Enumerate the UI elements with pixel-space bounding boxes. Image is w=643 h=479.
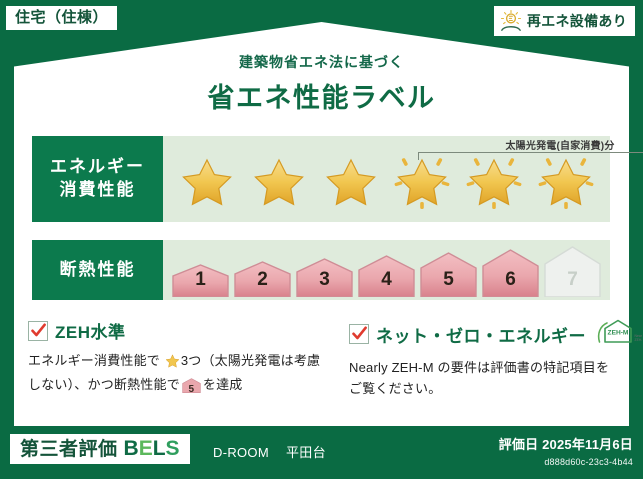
evaluation-date-label: 評価日 [499, 437, 539, 452]
claim-zeh-standard: ZEH水準 エネルギー消費性能で 3つ（太陽光発電は考慮しない）、かつ断熱性能で… [28, 318, 323, 418]
insulation-level-number: 1 [171, 269, 230, 291]
svg-text:ZEH-M: ZEH-M [635, 338, 643, 342]
evaluation-id: d888d60c-23c3-4b44 [499, 457, 633, 467]
star-icon [246, 146, 312, 212]
claim-nze-header: ネット・ゼロ・エネルギー ZEH-M Nearly ZEH-M [349, 318, 618, 350]
svg-text:ZEH-M: ZEH-M [608, 330, 629, 337]
project-info: D-ROOM平田台 [213, 442, 326, 461]
energy-row-body: 太陽光発電(自家消費)分 [163, 136, 610, 222]
checkbox-checked-icon [349, 324, 369, 344]
solar-star-icon [389, 146, 455, 212]
insulation-level-house-inactive: 7 [543, 246, 602, 297]
star-icon [161, 356, 180, 371]
insulation-level-number: 5 [419, 269, 478, 291]
insulation-performance-row: 断熱性能 1 [32, 240, 610, 300]
project-code: D-ROOM [213, 445, 269, 460]
renewable-badge-label: 再エネ設備あり [527, 14, 627, 28]
energy-row-label-line1: エネルギー [50, 156, 145, 179]
insulation-level-group: 1 2 3 4 [163, 240, 610, 300]
zeh-m-logo-icon: ZEH-M Nearly ZEH-M [596, 318, 642, 350]
solar-star-icon [461, 146, 527, 212]
energy-row-label: エネルギー 消費性能 [32, 136, 163, 222]
claim-zeh-text-1: エネルギー消費性能で [28, 353, 160, 368]
sun-solar-icon [499, 9, 523, 33]
insulation-level-house: 4 [357, 255, 416, 297]
star-icon [318, 146, 384, 212]
bels-logo: BELS [124, 438, 180, 459]
energy-row-label-line2: 消費性能 [60, 179, 136, 202]
house-level-icon-value: 5 [182, 382, 201, 399]
claim-nze-title: ネット・ゼロ・エネルギー [376, 322, 586, 347]
insulation-level-number: 6 [481, 269, 540, 291]
insulation-row-label: 断熱性能 [32, 240, 163, 300]
label-title-block: 建築物省エネ法に基づく 省エネ性能ラベル [0, 52, 643, 115]
bels-badge: 第三者評価 BELS [10, 434, 190, 464]
claim-zeh-header: ZEH水準 [28, 318, 323, 343]
insulation-row-body: 1 2 3 4 [163, 240, 610, 300]
energy-performance-label: 住宅（住棟） 再エネ [0, 0, 643, 479]
evaluation-info: 評価日 2025年11月6日 d888d60c-23c3-4b44 [499, 434, 633, 467]
claims-section: ZEH水準 エネルギー消費性能で 3つ（太陽光発電は考慮しない）、かつ断熱性能で… [28, 318, 618, 418]
energy-performance-row: エネルギー 消費性能 太陽光発電(自家消費)分 [32, 136, 610, 222]
title-main: 省エネ性能ラベル [0, 76, 643, 115]
claim-zeh-title: ZEH水準 [55, 318, 126, 343]
renewable-equipment-badge: 再エネ設備あり [494, 6, 635, 36]
insulation-level-number: 2 [233, 269, 292, 291]
star-icon [174, 146, 240, 212]
title-subtitle: 建築物省エネ法に基づく [0, 52, 643, 72]
insulation-level-house: 2 [233, 261, 292, 297]
insulation-level-number: 3 [295, 269, 354, 291]
insulation-level-house: 5 [419, 252, 478, 297]
house-level-icon: 5 [182, 378, 201, 399]
bels-jp-label: 第三者評価 [20, 440, 118, 459]
checkbox-checked-icon [28, 321, 48, 341]
evaluation-date-value: 2025年11月6日 [542, 437, 633, 452]
star-rating-group [163, 136, 610, 222]
insulation-level-number: 7 [543, 269, 602, 291]
project-name: 平田台 [286, 445, 326, 460]
claim-nze-description: Nearly ZEH-M の要件は評価書の特記項目をご覧ください。 [349, 357, 618, 400]
claim-net-zero-energy: ネット・ゼロ・エネルギー ZEH-M Nearly ZEH-M Nearly Z… [323, 318, 618, 418]
claim-zeh-text-3: を達成 [203, 377, 243, 392]
solar-star-icon [533, 146, 599, 212]
evaluation-date: 評価日 2025年11月6日 [499, 434, 633, 453]
insulation-level-house: 1 [171, 264, 230, 297]
insulation-level-house: 3 [295, 258, 354, 297]
insulation-level-number: 4 [357, 269, 416, 291]
footer-bar: 第三者評価 BELS D-ROOM平田台 評価日 2025年11月6日 d888… [0, 426, 643, 479]
claim-zeh-description: エネルギー消費性能で 3つ（太陽光発電は考慮しない）、かつ断熱性能で 5を達成 [28, 350, 323, 400]
insulation-level-house: 6 [481, 249, 540, 297]
building-type-badge: 住宅（住棟） [6, 6, 117, 30]
